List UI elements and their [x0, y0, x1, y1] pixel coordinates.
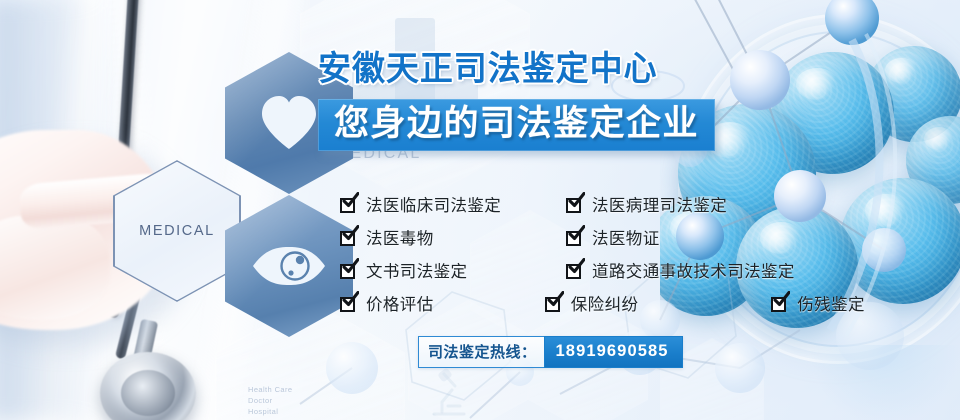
subtitle-banner: 您身边的司法鉴定企业 [318, 99, 715, 151]
service-label: 法医毒物 [366, 225, 434, 249]
checkbox-checked-icon [340, 262, 357, 279]
list-item[interactable]: 法医毒物 [340, 225, 566, 249]
service-checklist: 法医临床司法鉴定 法医病理司法鉴定 [340, 192, 880, 324]
checklist-row: 法医毒物 法医物证 [340, 225, 880, 249]
checkbox-checked-icon [566, 262, 583, 279]
list-item[interactable]: 法医病理司法鉴定 [566, 192, 816, 216]
hexagon-eye-tile [225, 195, 353, 337]
list-item[interactable]: 价格评估 [340, 291, 545, 315]
service-label: 价格评估 [366, 291, 434, 315]
checkbox-checked-icon [545, 295, 562, 312]
list-item[interactable]: 道路交通事故技术司法鉴定 [566, 258, 816, 282]
checkbox-checked-icon [340, 295, 357, 312]
checklist-row: 法医临床司法鉴定 法医病理司法鉴定 [340, 192, 880, 216]
checkbox-checked-icon [340, 196, 357, 213]
list-item[interactable]: 法医临床司法鉴定 [340, 192, 566, 216]
checkbox-checked-icon [566, 229, 583, 246]
cell-reflection [810, 345, 960, 420]
hotline-label: 司法鉴定热线： [418, 336, 544, 368]
eye-icon [225, 244, 353, 288]
service-label: 文书司法鉴定 [366, 258, 467, 282]
list-item[interactable]: 伤残鉴定 [771, 291, 880, 315]
page-subtitle: 您身边的司法鉴定企业 [334, 106, 699, 142]
hexagon-medical-label: MEDICAL [113, 160, 241, 302]
service-label: 法医物证 [592, 225, 660, 249]
service-label: 法医病理司法鉴定 [592, 192, 727, 216]
checkbox-checked-icon [340, 229, 357, 246]
hotline-number[interactable]: 18919690585 [544, 336, 683, 368]
list-item[interactable]: 法医物证 [566, 225, 816, 249]
service-label: 伤残鉴定 [797, 291, 865, 315]
list-item[interactable]: 文书司法鉴定 [340, 258, 566, 282]
checkbox-checked-icon [566, 196, 583, 213]
checklist-row: 价格评估 保险纠纷 伤残鉴定 [340, 291, 880, 315]
service-label: 保险纠纷 [571, 291, 639, 315]
hexagon-label-text: MEDICAL [139, 223, 215, 239]
headline-block: 安徽天正司法鉴定中心 您身边的司法鉴定企业 [318, 52, 878, 151]
hotline-bar[interactable]: 司法鉴定热线： 18919690585 [418, 336, 683, 368]
service-label: 道路交通事故技术司法鉴定 [592, 258, 795, 282]
list-item[interactable]: 保险纠纷 [545, 291, 772, 315]
promo-banner: MEDICAL Health CareDoctorHospital MEDICA… [0, 0, 960, 420]
hexagon-icon-cluster: MEDICAL [95, 40, 355, 400]
page-title: 安徽天正司法鉴定中心 [318, 52, 861, 86]
checklist-row: 文书司法鉴定 道路交通事故技术司法鉴定 [340, 258, 880, 282]
doctor-thumb [0, 215, 110, 320]
checkbox-checked-icon [771, 295, 788, 312]
service-label: 法医临床司法鉴定 [366, 192, 501, 216]
